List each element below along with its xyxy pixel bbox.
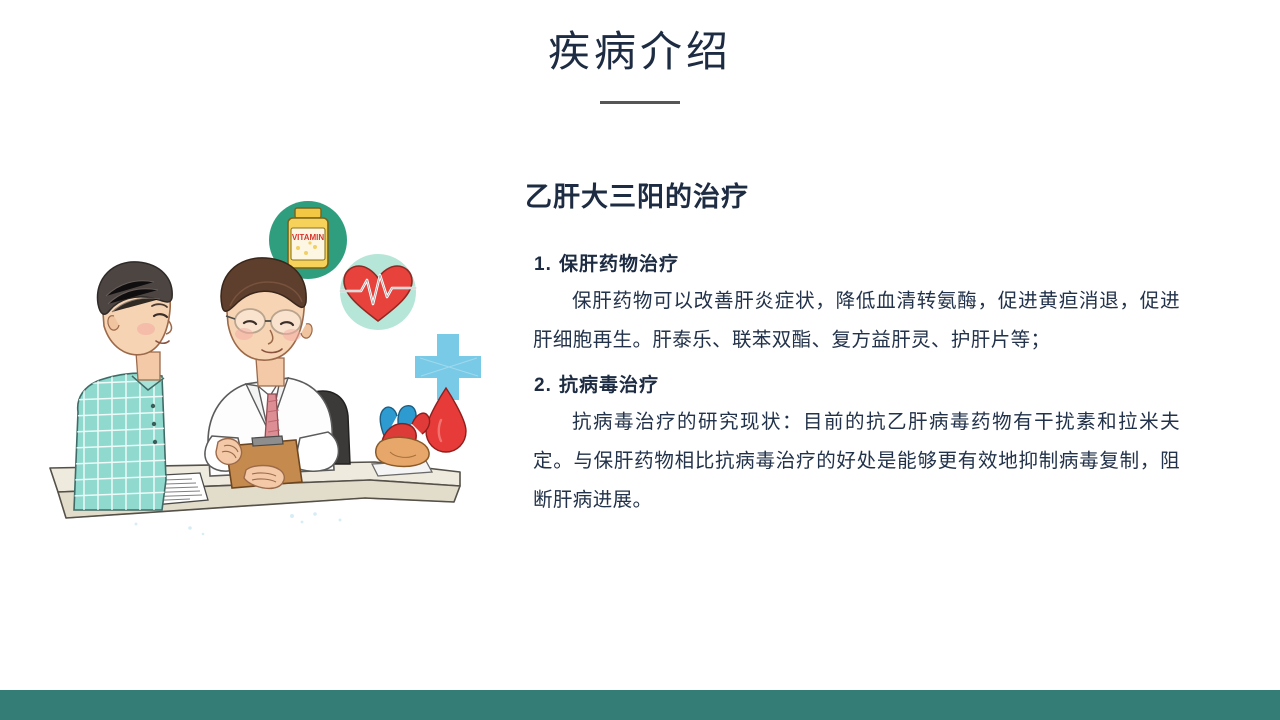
content-heading: 乙肝大三阳的治疗: [525, 180, 1180, 215]
list-item-number-1: 1.: [525, 254, 559, 276]
anatomical-heart-model: [372, 406, 432, 476]
blood-drop-icon: [426, 388, 466, 452]
list-item-body-2: 抗病毒治疗的研究现状：目前的抗乙肝病毒药物有干扰素和拉米夫定。与保肝药物相比抗病…: [525, 403, 1180, 520]
list-item-number-2: 2.: [525, 375, 559, 397]
list-item-label-2: 抗病毒治疗: [559, 375, 659, 396]
svg-text:VITAMIN: VITAMIN: [292, 233, 325, 242]
title-divider: [600, 101, 680, 104]
list-item-title-2: 2.抗病毒治疗: [525, 370, 1180, 397]
content-column: 乙肝大三阳的治疗 1.保肝药物治疗 保肝药物可以改善肝炎症状，降低血清转氨酶，促…: [525, 180, 1180, 524]
list-item: 1.保肝药物治疗 保肝药物可以改善肝炎症状，降低血清转氨酶，促进黄疸消退，促进肝…: [525, 249, 1180, 360]
list-item-title-1: 1.保肝药物治疗: [525, 249, 1180, 276]
list-item-label-1: 保肝药物治疗: [559, 254, 679, 275]
doctor-figure: [205, 258, 350, 489]
patient-figure: [70, 262, 172, 520]
slide-canvas: 疾病介绍 VITAMIN: [0, 0, 1280, 720]
footer-bar: [0, 690, 1280, 720]
list-item: 2.抗病毒治疗 抗病毒治疗的研究现状：目前的抗乙肝病毒药物有干扰素和拉米夫定。与…: [525, 370, 1180, 520]
decorative-speckles: [135, 512, 342, 535]
doctor-patient-illustration: VITAMIN: [40, 180, 490, 620]
list-item-body-1: 保肝药物可以改善肝炎症状，降低血清转氨酶，促进黄疸消退，促进肝细胞再生。肝泰乐、…: [525, 282, 1180, 360]
heartbeat-heart-icon: [340, 254, 416, 330]
page-title: 疾病介绍: [0, 28, 1280, 76]
